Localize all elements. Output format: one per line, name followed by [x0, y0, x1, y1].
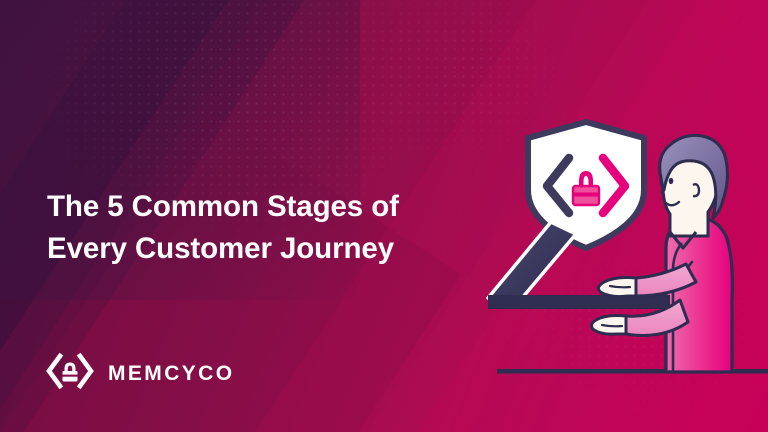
- promo-banner: The 5 Common Stages of Every Customer Jo…: [0, 0, 768, 432]
- logo-wordmark: MEMCYCO: [108, 362, 234, 386]
- brand-logo[interactable]: MEMCYCO: [46, 352, 234, 395]
- bracketed-padlock-icon: [46, 352, 94, 395]
- hero-illustration: [430, 0, 768, 432]
- page-title: The 5 Common Stages of Every Customer Jo…: [47, 186, 477, 270]
- person-at-laptop-illustration: [430, 0, 768, 432]
